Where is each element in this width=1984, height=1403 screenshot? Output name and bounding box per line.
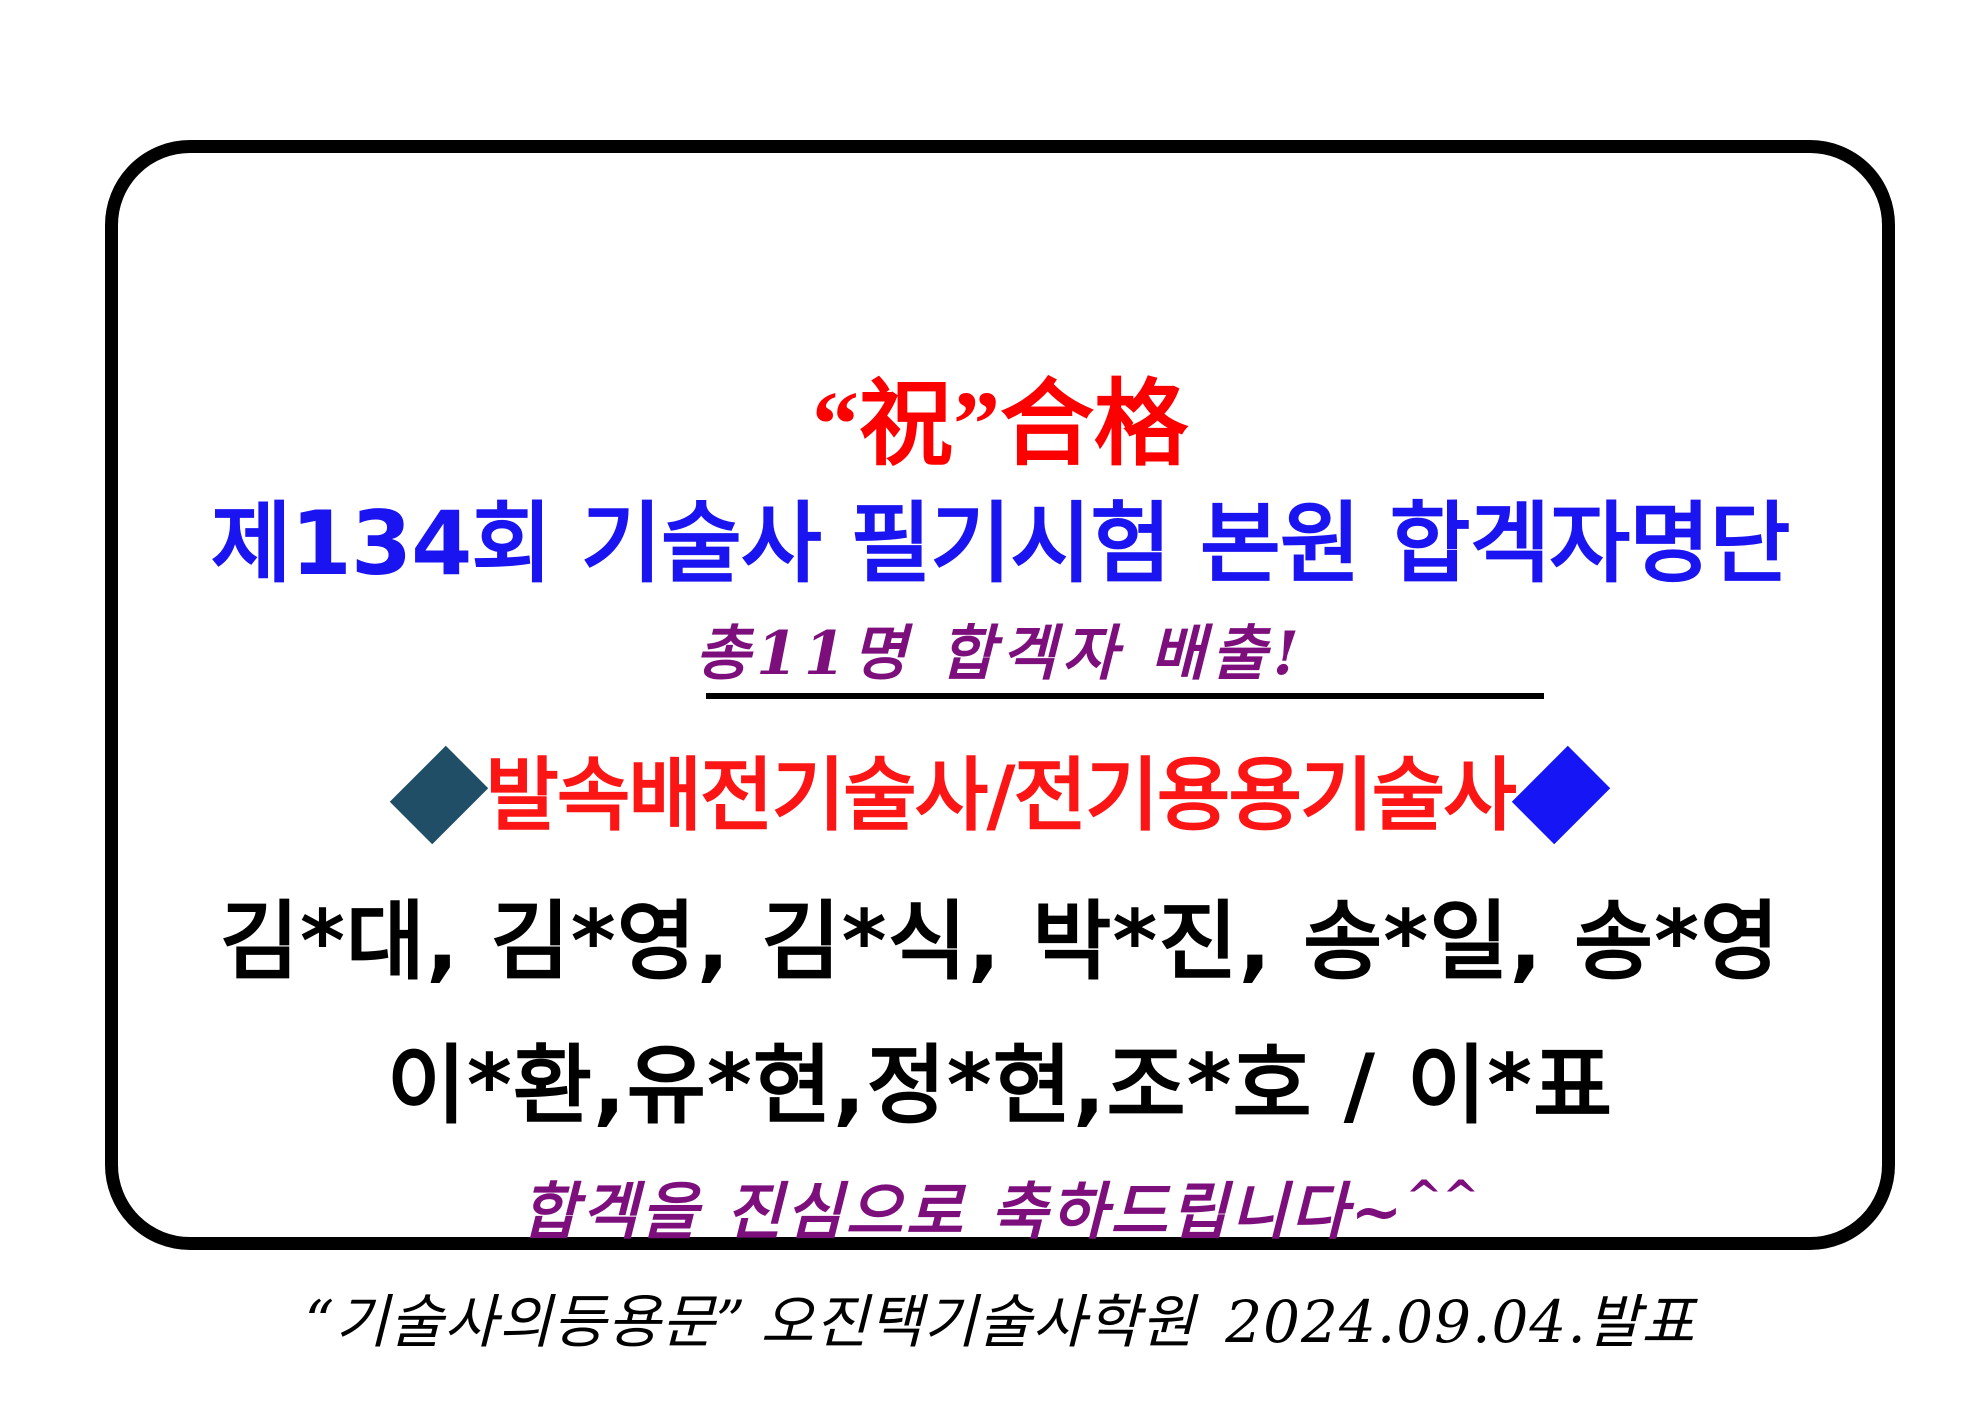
diamond-left-icon bbox=[390, 746, 488, 844]
caret-emoticon: ^^ bbox=[1405, 1171, 1479, 1222]
pass-count-text: 총11명 합겍자 배출! bbox=[118, 605, 1882, 692]
footer-credit: “기술사의등용문”오진택기술사학원2024.09.04.발표 bbox=[118, 1275, 1882, 1359]
passer-names-row-1: 김*대, 김*영, 김*식, 박*진, 송*일, 송*영 bbox=[118, 871, 1882, 996]
congratulation-text: 합겍을 진심으로 축하드립니다~ bbox=[521, 1175, 1406, 1248]
quote-close-glyph: ” bbox=[953, 373, 1000, 477]
footer-academy-name: 오진택기술사학원 bbox=[760, 1288, 1195, 1356]
footer-announce-date: 2024.09.04.발표 bbox=[1225, 1288, 1695, 1356]
passer-names-row-2: 이*환,유*현,정*현,조*호 / 이*표 bbox=[118, 1015, 1882, 1140]
discipline-label: 발속배전기술사/전기용용기술사 bbox=[485, 749, 1515, 842]
exam-title: 제134회 기술사 필기시험 본원 합겍자명단 bbox=[118, 473, 1882, 600]
celebration-title: “祝”合格 bbox=[118, 348, 1882, 484]
pass-count-underline bbox=[706, 693, 1544, 699]
diamond-right-icon bbox=[1512, 746, 1610, 844]
congratulation-message: 합겍을 진심으로 축하드립니다~^^ bbox=[118, 1161, 1882, 1251]
quote-open-glyph: “ bbox=[812, 373, 859, 477]
poster-frame: “祝”合格 제134회 기술사 필기시험 본원 합겍자명단 총11명 합겍자 배… bbox=[105, 140, 1895, 1250]
kanji-celebrate: 祝 bbox=[859, 370, 953, 479]
kanji-pass: 合格 bbox=[1000, 370, 1188, 479]
footer-motto: “기술사의등용문” bbox=[305, 1288, 747, 1356]
discipline-heading: 발속배전기술사/전기용용기술사 bbox=[118, 731, 1882, 847]
